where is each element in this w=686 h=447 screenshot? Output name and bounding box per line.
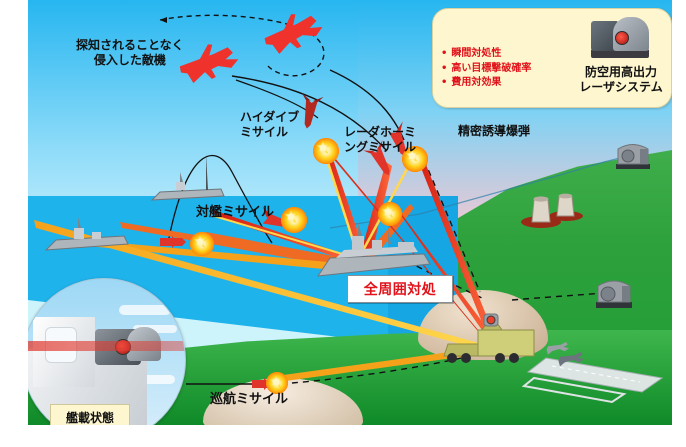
label-high-dive-missile: ハイダイブ ミサイル [240, 110, 299, 139]
left-margin [0, 0, 28, 447]
inset-laser-beam [23, 341, 185, 351]
callout-bullet-0: 瞬間対処性 [441, 47, 569, 62]
label-precision-guided-bomb: 精密誘導爆弾 [458, 124, 530, 139]
explosion-cruise [266, 372, 288, 394]
explosion-radar-homing [378, 202, 402, 226]
laser-system-callout: 瞬間対処性 高い目標撃破確率 費用対効果 防空用高出力 レーザシステム [432, 8, 672, 108]
label-anti-ship-missile: 対艦ミサイル [196, 205, 274, 221]
label-radar-homing-missile: レーダホーミ ングミサイル [344, 125, 416, 154]
cloud-1 [119, 305, 171, 315]
explosion-anti-ship [281, 207, 307, 233]
callout-bullet-2: 費用対効果 [441, 76, 569, 91]
callout-bullet-1: 高い目標撃破確率 [441, 62, 569, 77]
all-around-defense-box: 全周囲対処 [347, 275, 453, 303]
turret-lens [615, 31, 629, 45]
all-around-defense-label: 全周囲対処 [364, 279, 437, 299]
explosion-high-dive [313, 138, 339, 164]
explosion-anti-ship-2 [190, 232, 214, 256]
shipborne-state-label: 艦載状態 [66, 409, 114, 426]
callout-caption: 防空用高出力 レーザシステム [573, 65, 669, 95]
laser-turret-icon [589, 13, 651, 63]
label-enemy-aircraft: 探知されることなく 侵入した敵機 [76, 38, 184, 67]
bottom-margin [0, 425, 686, 447]
right-margin [672, 0, 686, 447]
label-cruise-missile: 巡航ミサイル [210, 392, 288, 408]
figure-canvas: 探知されることなく 侵入した敵機 ハイダイブ ミサイル レーダホーミ ングミサイ… [0, 0, 686, 447]
callout-bullet-list: 瞬間対処性 高い目標撃破確率 費用対効果 [441, 47, 569, 91]
